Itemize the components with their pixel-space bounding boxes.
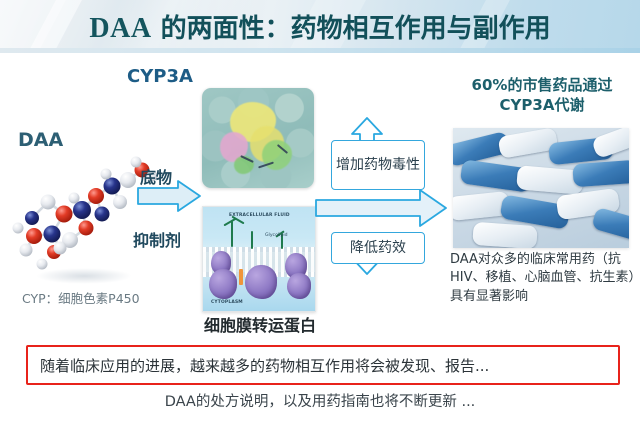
molecule-shadow: [36, 268, 132, 284]
transport-protein-3: [245, 265, 277, 299]
glycoprotein-stalk-2: [251, 231, 253, 249]
callout-efficacy-text: 降低药效: [350, 240, 406, 256]
footnote-text: DAA的处方说明，以及用药指南也将不断更新 ...: [0, 390, 640, 411]
transport-channel-marker: [239, 269, 243, 285]
cyp3a-label: CYP3A: [0, 66, 320, 87]
page-title: DAA 的两面性：药物相互作用与副作用: [0, 8, 640, 45]
inhibitor-label: 抑制剂: [133, 227, 181, 251]
daa-molecule-image: [8, 140, 168, 290]
membrane-glycolipid-label: Glycolipid: [265, 233, 288, 238]
capsule-4: [591, 128, 629, 159]
callout-toxicity-text: 增加药物毒性: [336, 157, 420, 173]
cyp-definition-note: CYP：细胞色素P450: [22, 288, 140, 307]
page-title-cjk: 的两面性：药物相互作用与副作用: [152, 14, 551, 44]
capsule-11: [591, 207, 629, 244]
page-title-latin: DAA: [89, 13, 151, 44]
transport-protein-5: [287, 273, 311, 299]
callout-efficacy: 降低药效: [331, 232, 425, 264]
cyp3a-metabolism-headline: 60%的市售药品通过CYP3A代谢: [449, 76, 635, 115]
highlight-box: 随着临床应用的进展，越来越多的药物相互作用将会被发现、报告...: [26, 345, 620, 385]
clinical-impact-paragraph: DAA对众多的临床常用药（抗HIV、移植、心脑血管、抗生素）具有显著影响: [450, 251, 636, 306]
glycoprotein-stalk-1: [231, 221, 233, 247]
membrane-transporter-label: 细胞膜转运蛋白: [180, 312, 340, 336]
cyp3a-protein-image: [202, 88, 314, 188]
callout-toxicity: 增加药物毒性: [331, 140, 425, 190]
membrane-transporter-image: EXTRACELLULAR FLUID Glycolipid CYTOPLASM: [202, 206, 316, 312]
capsules-image: [453, 128, 629, 248]
slide-root: DAA 的两面性：药物相互作用与副作用 DAA: [0, 0, 640, 421]
transport-protein-2: [209, 269, 237, 299]
capsule-12: [472, 222, 537, 248]
membrane-extracellular-label: EXTRACELLULAR FLUID: [229, 213, 290, 218]
substrate-label: 底物: [140, 164, 172, 188]
metabolism-arrow: [316, 190, 446, 226]
capsule-7: [572, 160, 629, 187]
highlight-box-text: 随着临床应用的进展，越来越多的药物相互作用将会被发现、报告...: [28, 355, 489, 376]
membrane-cytoplasm-label: CYTOPLASM: [211, 300, 243, 305]
header-baseline: [0, 48, 640, 53]
